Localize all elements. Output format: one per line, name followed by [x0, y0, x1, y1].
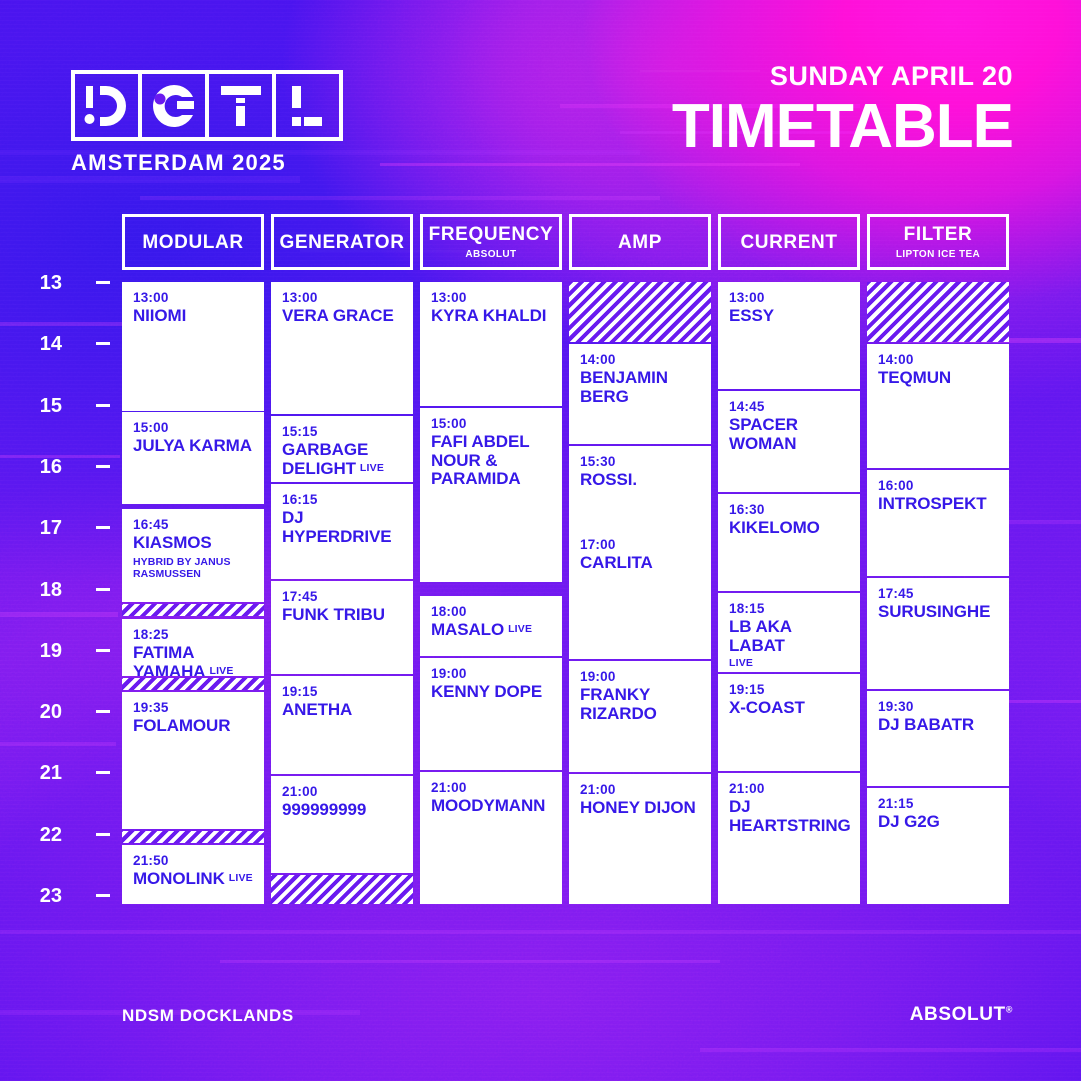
slot-start-time: 15:15: [282, 425, 404, 439]
stage-header-filter[interactable]: FILTERLIPTON ICE TEA: [867, 214, 1009, 270]
slot-artist-name: FUNK TRIBU: [282, 606, 404, 624]
slot-artist-name: JULYA KARMA: [133, 437, 255, 455]
slot-start-time: 21:50: [133, 854, 255, 868]
slot-start-time: 17:00: [580, 538, 702, 552]
slot-artist-name: MOODYMANN: [431, 797, 553, 815]
changeover-block: [122, 831, 264, 843]
stage-sponsor: ABSOLUT: [465, 250, 516, 260]
slot-start-time: 19:30: [878, 700, 1000, 714]
slot-artist-name: LB AKA LABAT: [729, 618, 851, 655]
absolut-wordmark: ABSOLUT: [910, 1004, 1006, 1025]
slot-start-time: 21:00: [282, 785, 404, 799]
slot-artist-name: NIIOMI: [133, 307, 255, 325]
timetable-slot[interactable]: 15:00JULYA KARMA: [122, 412, 264, 504]
timetable-slot[interactable]: 18:15LB AKA LABATLIVE: [718, 593, 860, 672]
changeover-block: [122, 678, 264, 690]
slot-artist-name: KYRA KHALDI: [431, 307, 553, 325]
timetable-slot[interactable]: 15:30ROSSI.: [569, 446, 711, 537]
timetable-slot[interactable]: 19:00KENNY DOPE: [420, 658, 562, 770]
live-badge: LIVE: [209, 665, 233, 676]
live-badge: LIVE: [508, 623, 532, 635]
venue-label: NDSM DOCKLANDS: [122, 1006, 294, 1026]
slot-start-time: 16:45: [133, 518, 255, 532]
slot-artist-name: DJ HYPERDRIVE: [282, 509, 404, 546]
slot-start-time: 15:00: [431, 417, 553, 431]
timetable-slot[interactable]: 21:50MONOLINKLIVE: [122, 845, 264, 904]
timetable-slot[interactable]: 21:00DJ HEARTSTRING: [718, 773, 860, 904]
slot-start-time: 13:00: [431, 291, 553, 305]
stage-name: MODULAR: [142, 233, 243, 252]
slot-start-time: 16:15: [282, 493, 404, 507]
slot-start-time: 21:00: [580, 783, 702, 797]
timetable-slot[interactable]: 21:00999999999: [271, 776, 413, 873]
axis-hour-tick: [96, 526, 110, 529]
axis-hour-label: 14: [18, 333, 62, 356]
timetable-slot[interactable]: 15:15GARBAGE DELIGHTLIVE: [271, 416, 413, 482]
slot-artist-name: GARBAGE DELIGHTLIVE: [282, 441, 404, 478]
slot-start-time: 19:35: [133, 701, 255, 715]
timetable-slot[interactable]: 17:45FUNK TRIBU: [271, 581, 413, 674]
axis-hour-label: 21: [18, 762, 62, 785]
slot-start-time: 13:00: [133, 291, 255, 305]
slot-artist-name: ESSY: [729, 307, 851, 325]
slot-start-time: 18:25: [133, 628, 255, 642]
slot-note: HYBRID BY JANUS RASMUSSEN: [133, 556, 255, 580]
timetable-slot[interactable]: 17:45SURUSINGHE: [867, 578, 1009, 689]
stage-header-current[interactable]: CURRENT: [718, 214, 860, 270]
live-badge: LIVE: [229, 872, 253, 884]
axis-hour-tick: [96, 771, 110, 774]
slot-artist-name: MASALOLIVE: [431, 621, 553, 639]
slot-start-time: 13:00: [729, 291, 851, 305]
slot-start-time: 21:00: [729, 782, 851, 796]
slot-artist-name: FATIMA YAMAHALIVE: [133, 644, 255, 676]
timetable-slot[interactable]: 19:35FOLAMOUR: [122, 692, 264, 829]
axis-hour-label: 23: [18, 885, 62, 908]
timetable-slot[interactable]: 14:45SPACER WOMAN: [718, 391, 860, 492]
stage-header-modular[interactable]: MODULAR: [122, 214, 264, 270]
slot-start-time: 16:30: [729, 503, 851, 517]
slot-start-time: 19:15: [282, 685, 404, 699]
axis-hour-tick: [96, 588, 110, 591]
changeover-block: [569, 282, 711, 342]
slot-start-time: 21:15: [878, 797, 1000, 811]
slot-start-time: 19:00: [431, 667, 553, 681]
stage-name: FREQUENCY: [429, 225, 554, 244]
registered-mark: ®: [1006, 1005, 1013, 1015]
axis-hour-tick: [96, 833, 110, 836]
slot-artist-name: KENNY DOPE: [431, 683, 553, 701]
axis-hour-label: 18: [18, 579, 62, 602]
axis-hour-tick: [96, 281, 110, 284]
slot-artist-name: VERA GRACE: [282, 307, 404, 325]
slot-start-time: 14:45: [729, 400, 851, 414]
timetable-slot[interactable]: 16:45KIASMOSHYBRID BY JANUS RASMUSSEN: [122, 509, 264, 602]
slot-artist-name: FOLAMOUR: [133, 717, 255, 735]
axis-hour-tick: [96, 710, 110, 713]
slot-artist-name: ANETHA: [282, 701, 404, 719]
axis-hour-label: 13: [18, 272, 62, 295]
timetable-slot[interactable]: 17:00CARLITA: [569, 529, 711, 659]
slot-artist-name: X-COAST: [729, 699, 851, 717]
timetable-slot[interactable]: 19:15X-COAST: [718, 674, 860, 771]
axis-hour-label: 20: [18, 701, 62, 724]
axis-hour-label: 16: [18, 456, 62, 479]
slot-start-time: 17:45: [878, 587, 1000, 601]
slot-artist-name: KIASMOS: [133, 534, 255, 552]
stage-name: CURRENT: [740, 233, 837, 252]
timetable-slot[interactable]: 21:15DJ G2G: [867, 788, 1009, 904]
slot-start-time: 14:00: [878, 353, 1000, 367]
slot-start-time: 21:00: [431, 781, 553, 795]
stage-name: FILTER: [904, 225, 973, 244]
slot-start-time: 15:30: [580, 455, 702, 469]
changeover-block: [271, 875, 413, 904]
changeover-block: [867, 282, 1009, 342]
timetable-slot[interactable]: 21:00HONEY DIJON: [569, 774, 711, 904]
timetable-slot[interactable]: 19:15ANETHA: [271, 676, 413, 774]
slot-artist-name: INTROSPEKT: [878, 495, 1000, 513]
slot-artist-name: 999999999: [282, 801, 404, 819]
stage-header-amp[interactable]: AMP: [569, 214, 711, 270]
live-badge: LIVE: [729, 657, 851, 669]
timetable-slot[interactable]: 19:00FRANKY RIZARDO: [569, 661, 711, 772]
timetable-grid: 1314151617181920212223MODULARGENERATORFR…: [0, 0, 1081, 1081]
timetable-slot[interactable]: 18:00MASALOLIVE: [420, 596, 562, 656]
timetable-slot[interactable]: 19:30DJ BABATR: [867, 691, 1009, 786]
slot-start-time: 13:00: [282, 291, 404, 305]
slot-start-time: 18:15: [729, 602, 851, 616]
slot-start-time: 17:45: [282, 590, 404, 604]
live-badge: LIVE: [360, 462, 384, 474]
timetable-slot[interactable]: 15:00FAFI ABDEL NOUR & PARAMIDA: [420, 408, 562, 582]
slot-artist-name: KIKELOMO: [729, 519, 851, 537]
slot-start-time: 19:00: [580, 670, 702, 684]
timetable-slot[interactable]: 14:00BENJAMIN BERG: [569, 344, 711, 444]
axis-hour-tick: [96, 649, 110, 652]
timetable-slot[interactable]: 13:00ESSY: [718, 282, 860, 389]
slot-artist-name: DJ BABATR: [878, 716, 1000, 734]
slot-artist-name: DJ G2G: [878, 813, 1000, 831]
timetable-slot[interactable]: 14:00TEQMUN: [867, 344, 1009, 468]
axis-hour-label: 15: [18, 395, 62, 418]
stage-name: GENERATOR: [279, 233, 404, 252]
slot-start-time: 15:00: [133, 421, 255, 435]
timetable-slot[interactable]: 16:00INTROSPEKT: [867, 470, 1009, 576]
changeover-block: [122, 604, 264, 616]
timetable-slot[interactable]: 16:15DJ HYPERDRIVE: [271, 484, 413, 579]
timetable-slot[interactable]: 16:30KIKELOMO: [718, 494, 860, 591]
timetable-slot[interactable]: 21:00MOODYMANN: [420, 772, 562, 904]
stage-header-generator[interactable]: GENERATOR: [271, 214, 413, 270]
slot-artist-name: ROSSI.: [580, 471, 702, 489]
axis-hour-label: 17: [18, 517, 62, 540]
timetable-slot[interactable]: 13:00KYRA KHALDI: [420, 282, 562, 406]
slot-artist-name: DJ HEARTSTRING: [729, 798, 851, 835]
slot-start-time: 14:00: [580, 353, 702, 367]
slot-artist-name: FAFI ABDEL NOUR & PARAMIDA: [431, 433, 553, 488]
stage-name: AMP: [618, 233, 662, 252]
absolut-sponsor-logo: ABSOLUT®: [910, 1004, 1013, 1026]
axis-hour-tick: [96, 465, 110, 468]
axis-hour-label: 22: [18, 824, 62, 847]
slot-artist-name: FRANKY RIZARDO: [580, 686, 702, 723]
timetable-slot[interactable]: 13:00NIIOMI: [122, 282, 264, 411]
slot-artist-name: TEQMUN: [878, 369, 1000, 387]
timetable-slot[interactable]: 13:00VERA GRACE: [271, 282, 413, 414]
slot-start-time: 18:00: [431, 605, 553, 619]
slot-artist-name: SURUSINGHE: [878, 603, 1000, 621]
slot-artist-name: SPACER WOMAN: [729, 416, 851, 453]
slot-artist-name: CARLITA: [580, 554, 702, 572]
timetable-slot[interactable]: 18:25FATIMA YAMAHALIVE: [122, 619, 264, 676]
axis-hour-tick: [96, 894, 110, 897]
slot-artist-name: BENJAMIN BERG: [580, 369, 702, 406]
slot-artist-name: MONOLINKLIVE: [133, 870, 255, 888]
slot-start-time: 16:00: [878, 479, 1000, 493]
axis-hour-label: 19: [18, 640, 62, 663]
stage-sponsor: LIPTON ICE TEA: [896, 250, 980, 260]
stage-header-frequency[interactable]: FREQUENCYABSOLUT: [420, 214, 562, 270]
axis-hour-tick: [96, 342, 110, 345]
slot-start-time: 19:15: [729, 683, 851, 697]
slot-artist-name: HONEY DIJON: [580, 799, 702, 817]
axis-hour-tick: [96, 404, 110, 407]
